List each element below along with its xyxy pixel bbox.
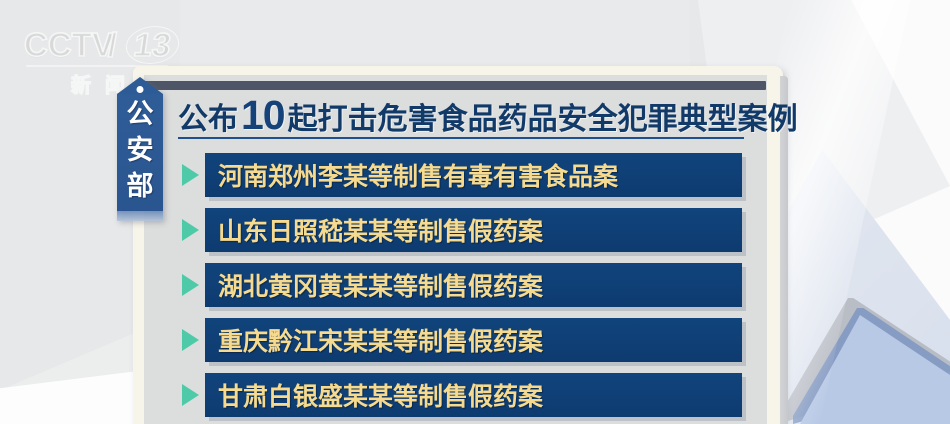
case-bar[interactable]: 河南郑州李某等制售有毒有害食品案 xyxy=(205,153,742,197)
triangle-bullet-icon xyxy=(182,384,199,406)
list-item[interactable]: 河南郑州李某等制售有毒有害食品案 xyxy=(182,153,742,197)
case-label: 山东日照嵇某某等制售假药案 xyxy=(205,212,543,248)
list-item[interactable]: 重庆黔江宋某某等制售假药案 xyxy=(182,318,742,362)
triangle-bullet-icon xyxy=(182,219,199,241)
case-bar[interactable]: 重庆黔江宋某某等制售假药案 xyxy=(205,318,742,362)
case-bar[interactable]: 甘肃白银盛某某等制售假药案 xyxy=(205,373,742,417)
triangle-bullet-icon xyxy=(182,274,199,296)
list-item[interactable]: 湖北黄冈黄某某等制售假药案 xyxy=(182,263,742,307)
headline-prefix: 公布 xyxy=(178,98,238,142)
headline-underline xyxy=(178,137,744,139)
list-item[interactable]: 甘肃白银盛某某等制售假药案 xyxy=(182,373,742,417)
agency-tag-char: 部 xyxy=(117,168,163,204)
case-label: 重庆黔江宋某某等制售假药案 xyxy=(205,322,543,358)
headline: 公布10起打击危害食品药品安全犯罪典型案例 xyxy=(178,93,756,137)
case-list: 河南郑州李某等制售有毒有害食品案 山东日照嵇某某等制售假药案 湖北黄冈黄某某等制… xyxy=(182,153,742,424)
agency-tag-char: 公 xyxy=(117,96,163,132)
agency-tag-ribbon-foot xyxy=(117,211,163,221)
agency-tag-pennant-top xyxy=(117,77,163,94)
agency-tag-body: 公 安 部 xyxy=(117,94,163,211)
agency-tag-char: 安 xyxy=(117,132,163,168)
list-item[interactable]: 山东日照嵇某某等制售假药案 xyxy=(182,208,742,252)
agency-tag-banner: 公 安 部 xyxy=(117,77,163,221)
broadcast-graphic-screen: CCTV/13 新闻 公 安 部 公布10起打击危害食品药品安全犯罪典型案例 河… xyxy=(0,0,950,424)
headline-suffix: 起打击危害食品药品安全犯罪典型案例 xyxy=(288,98,798,142)
agency-tag-dot-icon xyxy=(137,86,144,93)
case-bar[interactable]: 山东日照嵇某某等制售假药案 xyxy=(205,208,742,252)
case-bar[interactable]: 湖北黄冈黄某某等制售假药案 xyxy=(205,263,742,307)
triangle-bullet-icon xyxy=(182,164,199,186)
case-label: 甘肃白银盛某某等制售假药案 xyxy=(205,377,543,413)
triangle-bullet-icon xyxy=(182,329,199,351)
case-label: 河南郑州李某等制售有毒有害食品案 xyxy=(205,157,618,193)
case-label: 湖北黄冈黄某某等制售假药案 xyxy=(205,267,543,303)
info-card-top-bar xyxy=(144,81,766,90)
headline-count: 10 xyxy=(238,93,288,137)
